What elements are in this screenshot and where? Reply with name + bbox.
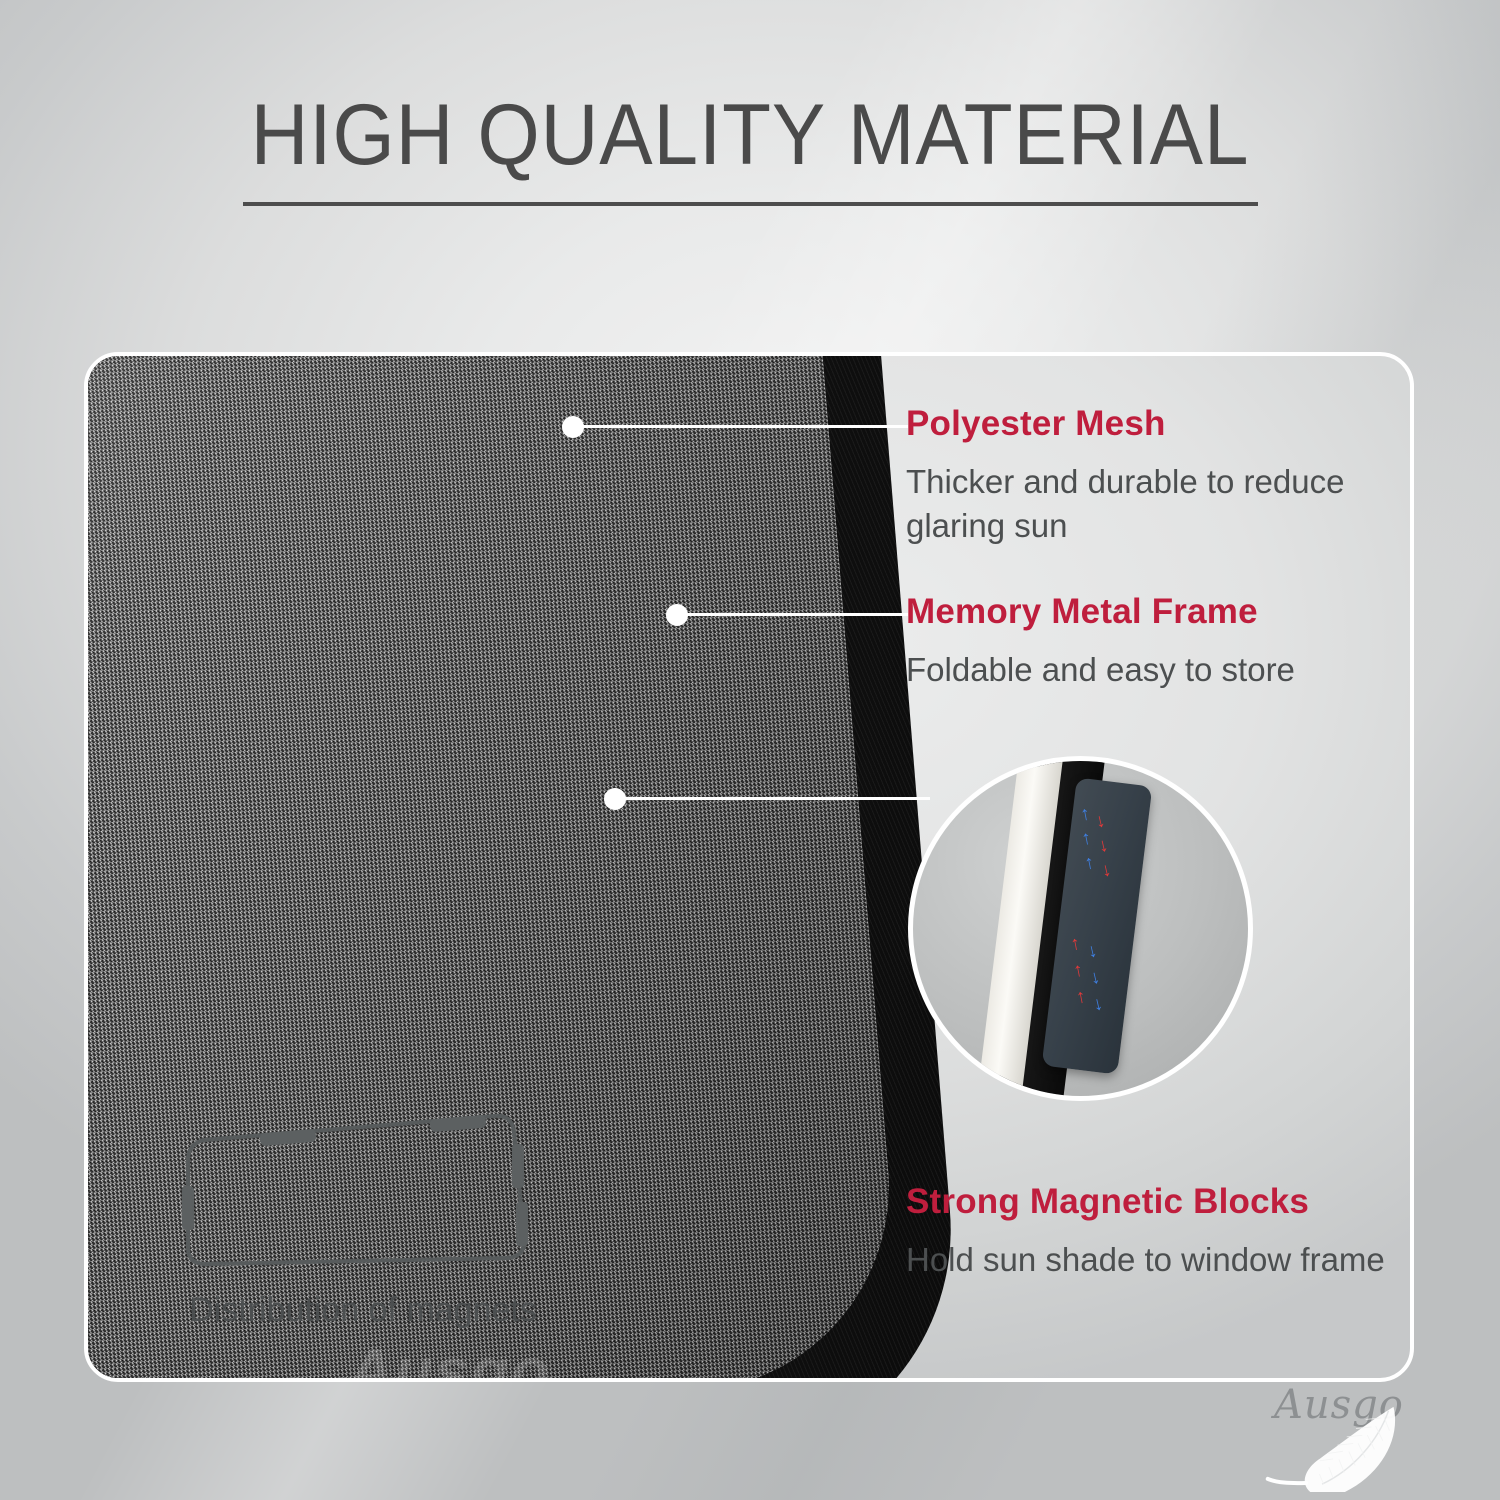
- magnet-block-right-upper: [512, 1144, 524, 1188]
- page-header: HIGH QUALITY MATERIAL: [0, 92, 1500, 206]
- field-arrow-north-3: ↑: [1083, 853, 1096, 873]
- content-panel: Ausgo Polyester Mesh Thicker and durable…: [84, 352, 1414, 1382]
- field-arrow-south-3: ↑: [1100, 861, 1114, 882]
- field-arrow-south-6: ↑: [1091, 995, 1105, 1016]
- page-title: HIGH QUALITY MATERIAL: [53, 92, 1448, 180]
- callout-title-magnetic-blocks: Strong Magnetic Blocks: [906, 1182, 1406, 1222]
- field-arrow-north-1: ↑: [1079, 804, 1092, 824]
- brand-logo: Ausgo: [1250, 1362, 1480, 1492]
- callout-title-memory-metal-frame: Memory Metal Frame: [906, 592, 1406, 632]
- field-arrow-south-5: ↑: [1089, 968, 1103, 989]
- feather-icon: [1250, 1362, 1480, 1492]
- magnet-distribution-diagram: [176, 1098, 546, 1278]
- magnet-diagram-caption: Distribution of magnets: [128, 1291, 598, 1330]
- field-arrow-south-4: ↑: [1086, 942, 1100, 963]
- leader-line-memory-metal-frame: [682, 613, 908, 616]
- callout-polyester-mesh: Polyester Mesh Thicker and durable to re…: [906, 404, 1406, 547]
- callout-body-memory-metal-frame: Foldable and easy to store: [906, 648, 1406, 692]
- magnet-block-right-lower: [516, 1202, 528, 1246]
- callout-memory-metal-frame: Memory Metal Frame Foldable and easy to …: [906, 592, 1406, 692]
- mesh-brand-watermark: Ausgo: [348, 1336, 551, 1382]
- callout-body-polyester-mesh: Thicker and durable to reduce glaring su…: [906, 460, 1406, 547]
- frame-outline: [188, 1116, 524, 1264]
- title-underline-divider: [243, 202, 1258, 206]
- leader-line-magnetic-blocks: [620, 797, 930, 800]
- callout-strong-magnetic-blocks: Strong Magnetic Blocks Hold sun shade to…: [906, 1182, 1406, 1282]
- field-arrow-south-2: ↑: [1097, 836, 1111, 857]
- magnet-block-top-left: [260, 1129, 317, 1147]
- magnet-block-top-right: [430, 1115, 487, 1133]
- field-arrow-north-2: ↑: [1080, 828, 1093, 848]
- field-arrow-north-6: ↑: [1074, 987, 1087, 1007]
- field-arrow-south-1: ↑: [1094, 812, 1108, 833]
- magnet-block-left: [182, 1186, 194, 1230]
- magnet-closeup-inset: ↑ ↑ ↑ ↑ ↑ ↑ ↑ ↑ ↑ ↑ ↑ ↑: [908, 756, 1253, 1101]
- field-arrow-north-4: ↑: [1069, 934, 1082, 954]
- callout-body-magnetic-blocks: Hold sun shade to window frame: [906, 1238, 1406, 1282]
- infographic-canvas: HIGH QUALITY MATERIAL Ausgo Polyester Me…: [0, 0, 1500, 1500]
- leader-line-polyester-mesh: [578, 425, 908, 428]
- field-arrow-north-5: ↑: [1072, 960, 1085, 980]
- callout-title-polyester-mesh: Polyester Mesh: [906, 404, 1406, 444]
